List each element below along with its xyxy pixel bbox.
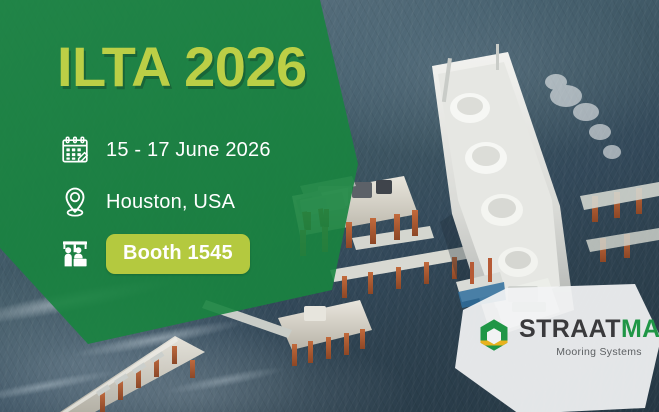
event-date-label: 15 - 17 June 2026 <box>106 139 271 162</box>
logo-wordblock: STRAATMAN Mooring Systems <box>519 317 659 358</box>
event-banner: ILTA 2026 <box>0 0 659 412</box>
logo-wordmark: STRAATMAN <box>519 315 659 343</box>
page-title: ILTA 2026 <box>57 39 307 95</box>
detail-row-location: Houston, USA <box>52 178 352 226</box>
logo-tagline: Mooring Systems <box>519 346 659 358</box>
hexagon-nut-icon <box>477 318 511 352</box>
location-pin-icon <box>52 186 98 218</box>
event-details-list: 15 - 17 June 2026 Houston, USA <box>52 126 352 278</box>
event-location-label: Houston, USA <box>106 191 235 214</box>
logo-word-dark: STRAAT <box>519 315 621 343</box>
calendar-icon <box>52 135 98 165</box>
banner-content: ILTA 2026 <box>0 0 360 412</box>
detail-row-booth: Booth 1545 <box>52 230 352 278</box>
exhibition-booth-icon <box>52 239 98 269</box>
logo-word-accent: MAN <box>621 315 659 343</box>
detail-row-date: 15 - 17 June 2026 <box>52 126 352 174</box>
straatman-logo: STRAATMAN Mooring Systems <box>477 317 659 358</box>
booth-number-badge: Booth 1545 <box>106 234 250 274</box>
logo-plate: STRAATMAN Mooring Systems <box>449 284 659 412</box>
